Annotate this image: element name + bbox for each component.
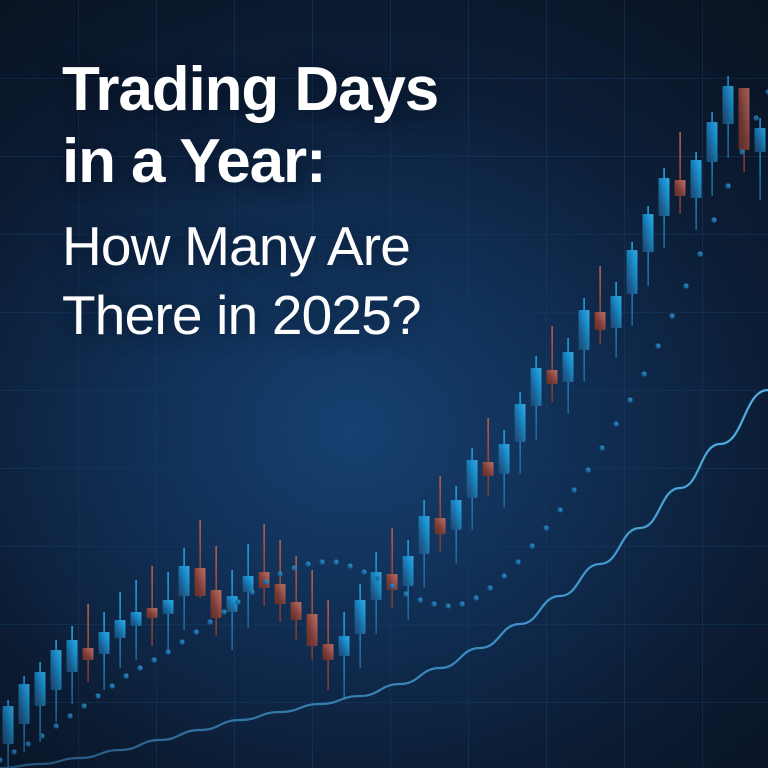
title-block: Trading Days in a Year: How Many Are The… bbox=[62, 54, 582, 350]
subhead-line-2: There in 2025? bbox=[62, 281, 582, 350]
headline-line-2: in a Year: bbox=[62, 126, 582, 198]
headline-line-1: Trading Days bbox=[62, 54, 582, 126]
page-title: Trading Days in a Year: bbox=[62, 54, 582, 198]
poster-canvas: Trading Days in a Year: How Many Are The… bbox=[0, 0, 768, 768]
subhead-line-1: How Many Are bbox=[62, 212, 582, 281]
page-subtitle: How Many Are There in 2025? bbox=[62, 212, 582, 350]
